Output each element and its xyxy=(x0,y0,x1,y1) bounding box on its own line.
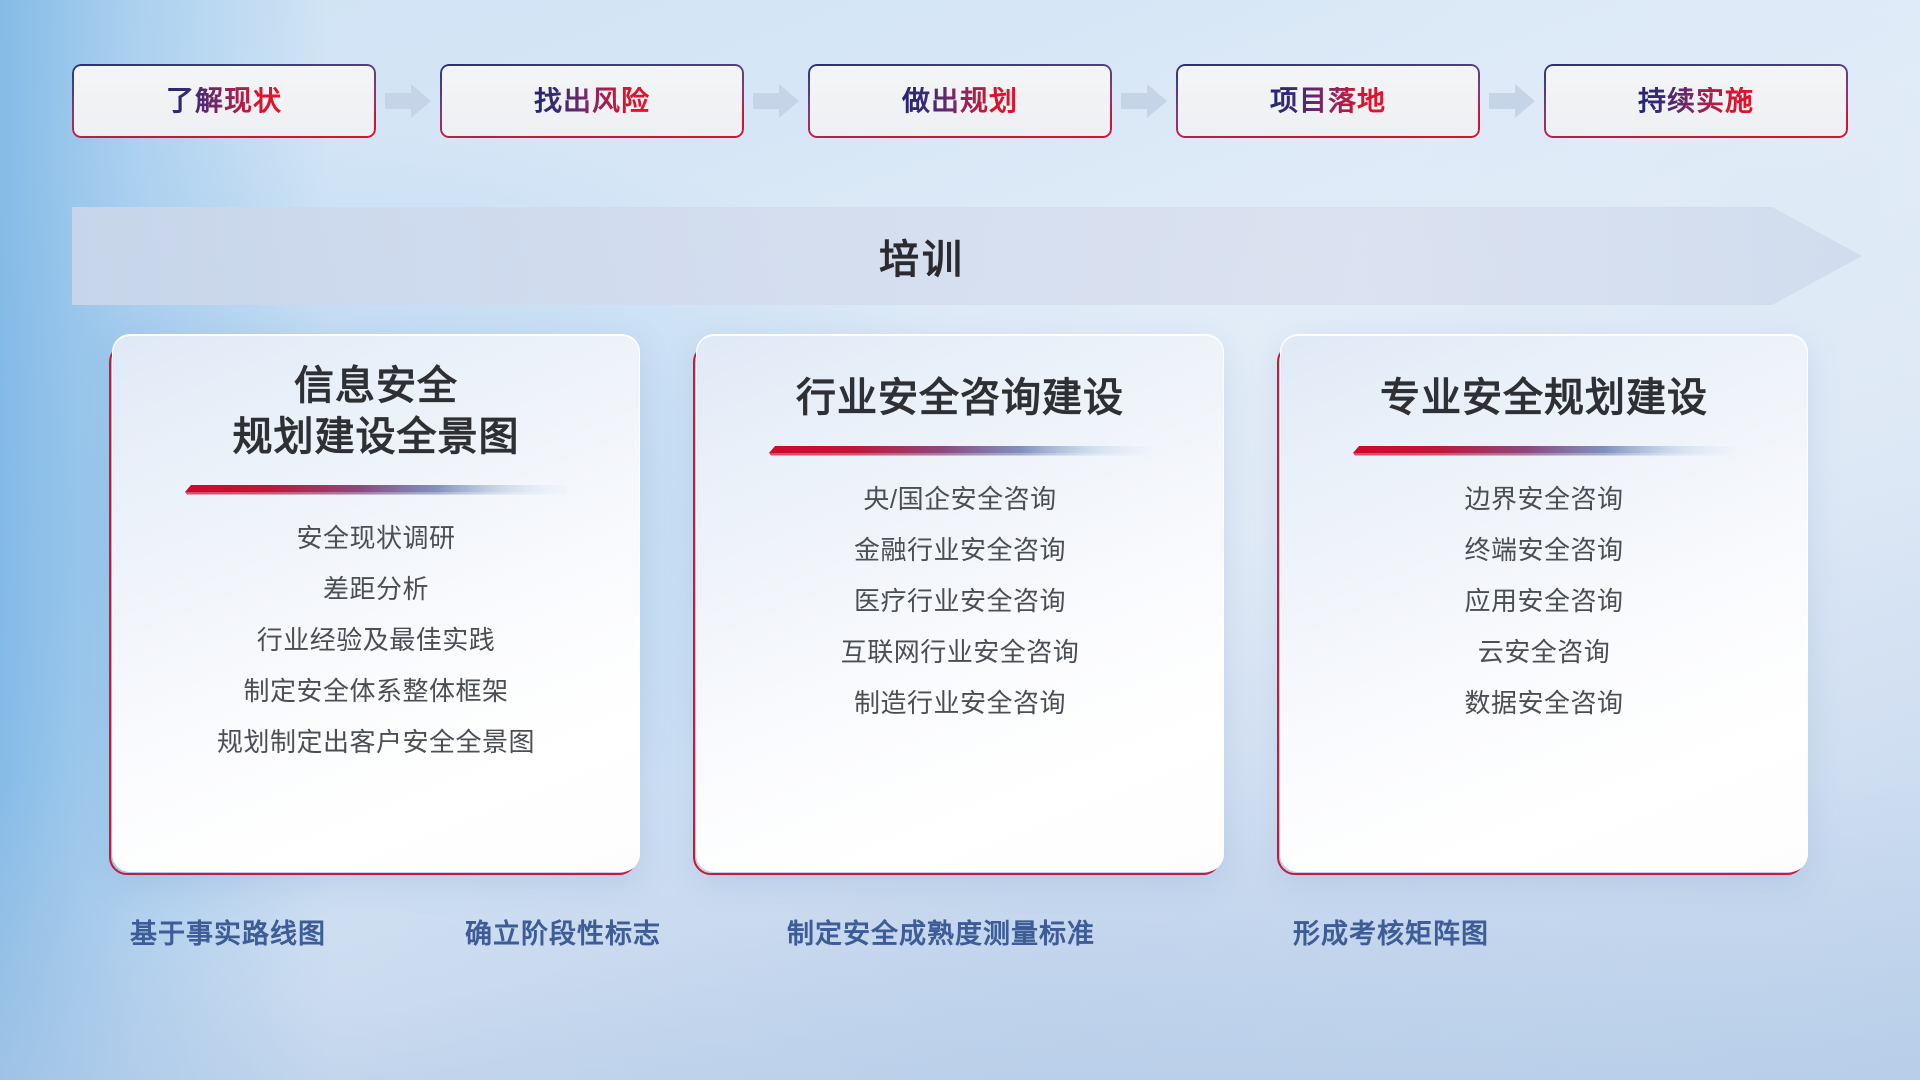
slide-canvas: 了解现状 找出风险 做出规划 项目落地 持续实施 xyxy=(0,0,1920,1080)
card-title-line: 专业安全规划建设 xyxy=(1380,373,1708,424)
card-body: 专业安全规划建设 xyxy=(1280,334,1808,872)
footnote-label: 形成考核矩阵图 xyxy=(1293,912,1489,951)
step-box-3[interactable]: 做出规划 xyxy=(808,64,1112,138)
card-title-line: 行业安全咨询建设 xyxy=(796,373,1124,424)
card-title: 信息安全 规划建设全景图 xyxy=(213,361,540,463)
list-item: 数据安全咨询 xyxy=(1464,684,1623,723)
card-professional-security-planning[interactable]: 专业安全规划建设 xyxy=(1280,334,1808,872)
step-label: 持续实施 xyxy=(1638,87,1754,115)
card-body: 信息安全 规划建设全景图 xyxy=(112,334,640,872)
list-item: 医疗行业安全咨询 xyxy=(854,582,1066,621)
card-information-security-blueprint[interactable]: 信息安全 规划建设全景图 xyxy=(112,334,640,872)
footnote-label: 基于事实路线图 xyxy=(130,912,326,951)
step-box-2[interactable]: 找出风险 xyxy=(440,64,744,138)
step-box-1[interactable]: 了解现状 xyxy=(72,64,376,138)
divider-gradient-bar xyxy=(185,485,567,499)
list-item: 应用安全咨询 xyxy=(1464,582,1623,621)
list-item: 互联网行业安全咨询 xyxy=(841,633,1080,672)
list-item: 央/国企安全咨询 xyxy=(863,480,1056,519)
card-item-list: 安全现状调研 差距分析 行业经验及最佳实践 制定安全体系整体框架 规划制定出客户… xyxy=(113,519,639,762)
card-industry-security-consulting[interactable]: 行业安全咨询建设 xyxy=(696,334,1224,872)
title-divider xyxy=(1353,446,1735,460)
divider-gradient-bar xyxy=(1353,446,1735,460)
card-title-line: 规划建设全景图 xyxy=(233,412,520,463)
step-box-5[interactable]: 持续实施 xyxy=(1544,64,1848,138)
card-title: 专业安全规划建设 xyxy=(1360,373,1728,424)
list-item: 差距分析 xyxy=(323,570,429,609)
card-body: 行业安全咨询建设 xyxy=(696,334,1224,872)
list-item: 制定安全体系整体框架 xyxy=(243,672,508,711)
step-box-4[interactable]: 项目落地 xyxy=(1176,64,1480,138)
list-item: 云安全咨询 xyxy=(1478,633,1611,672)
arrow-right-icon xyxy=(1112,64,1176,138)
card-row: 信息安全 规划建设全景图 xyxy=(0,334,1920,872)
card-title-line: 信息安全 xyxy=(233,361,520,412)
process-step-row: 了解现状 找出风险 做出规划 项目落地 持续实施 xyxy=(0,63,1920,138)
title-divider xyxy=(769,446,1151,460)
list-item: 行业经验及最佳实践 xyxy=(257,621,496,660)
footnote-label: 确立阶段性标志 xyxy=(465,912,661,951)
footnote-row: 基于事实路线图 确立阶段性标志 制定安全成熟度测量标准 形成考核矩阵图 xyxy=(0,912,1920,966)
step-label: 做出规划 xyxy=(902,87,1018,115)
arrow-right-icon xyxy=(744,64,808,138)
banner-label: 培训 xyxy=(72,207,1772,305)
list-item: 制造行业安全咨询 xyxy=(854,684,1066,723)
step-label: 找出风险 xyxy=(534,87,650,115)
list-item: 终端安全咨询 xyxy=(1464,531,1623,570)
list-item: 规划制定出客户安全全景图 xyxy=(217,723,535,762)
list-item: 金融行业安全咨询 xyxy=(854,531,1066,570)
arrow-right-icon xyxy=(1480,64,1544,138)
card-item-list: 边界安全咨询 终端安全咨询 应用安全咨询 云安全咨询 数据安全咨询 xyxy=(1281,480,1807,723)
footnote-label: 制定安全成熟度测量标准 xyxy=(787,912,1095,951)
title-divider xyxy=(185,485,567,499)
divider-gradient-bar xyxy=(769,446,1151,460)
arrow-right-icon xyxy=(376,64,440,138)
training-banner: 培训 xyxy=(72,207,1862,305)
card-title: 行业安全咨询建设 xyxy=(776,373,1144,424)
list-item: 安全现状调研 xyxy=(296,519,455,558)
card-item-list: 央/国企安全咨询 金融行业安全咨询 医疗行业安全咨询 互联网行业安全咨询 制造行… xyxy=(697,480,1223,723)
list-item: 边界安全咨询 xyxy=(1464,480,1623,519)
step-label: 了解现状 xyxy=(166,87,282,115)
step-label: 项目落地 xyxy=(1270,87,1386,115)
